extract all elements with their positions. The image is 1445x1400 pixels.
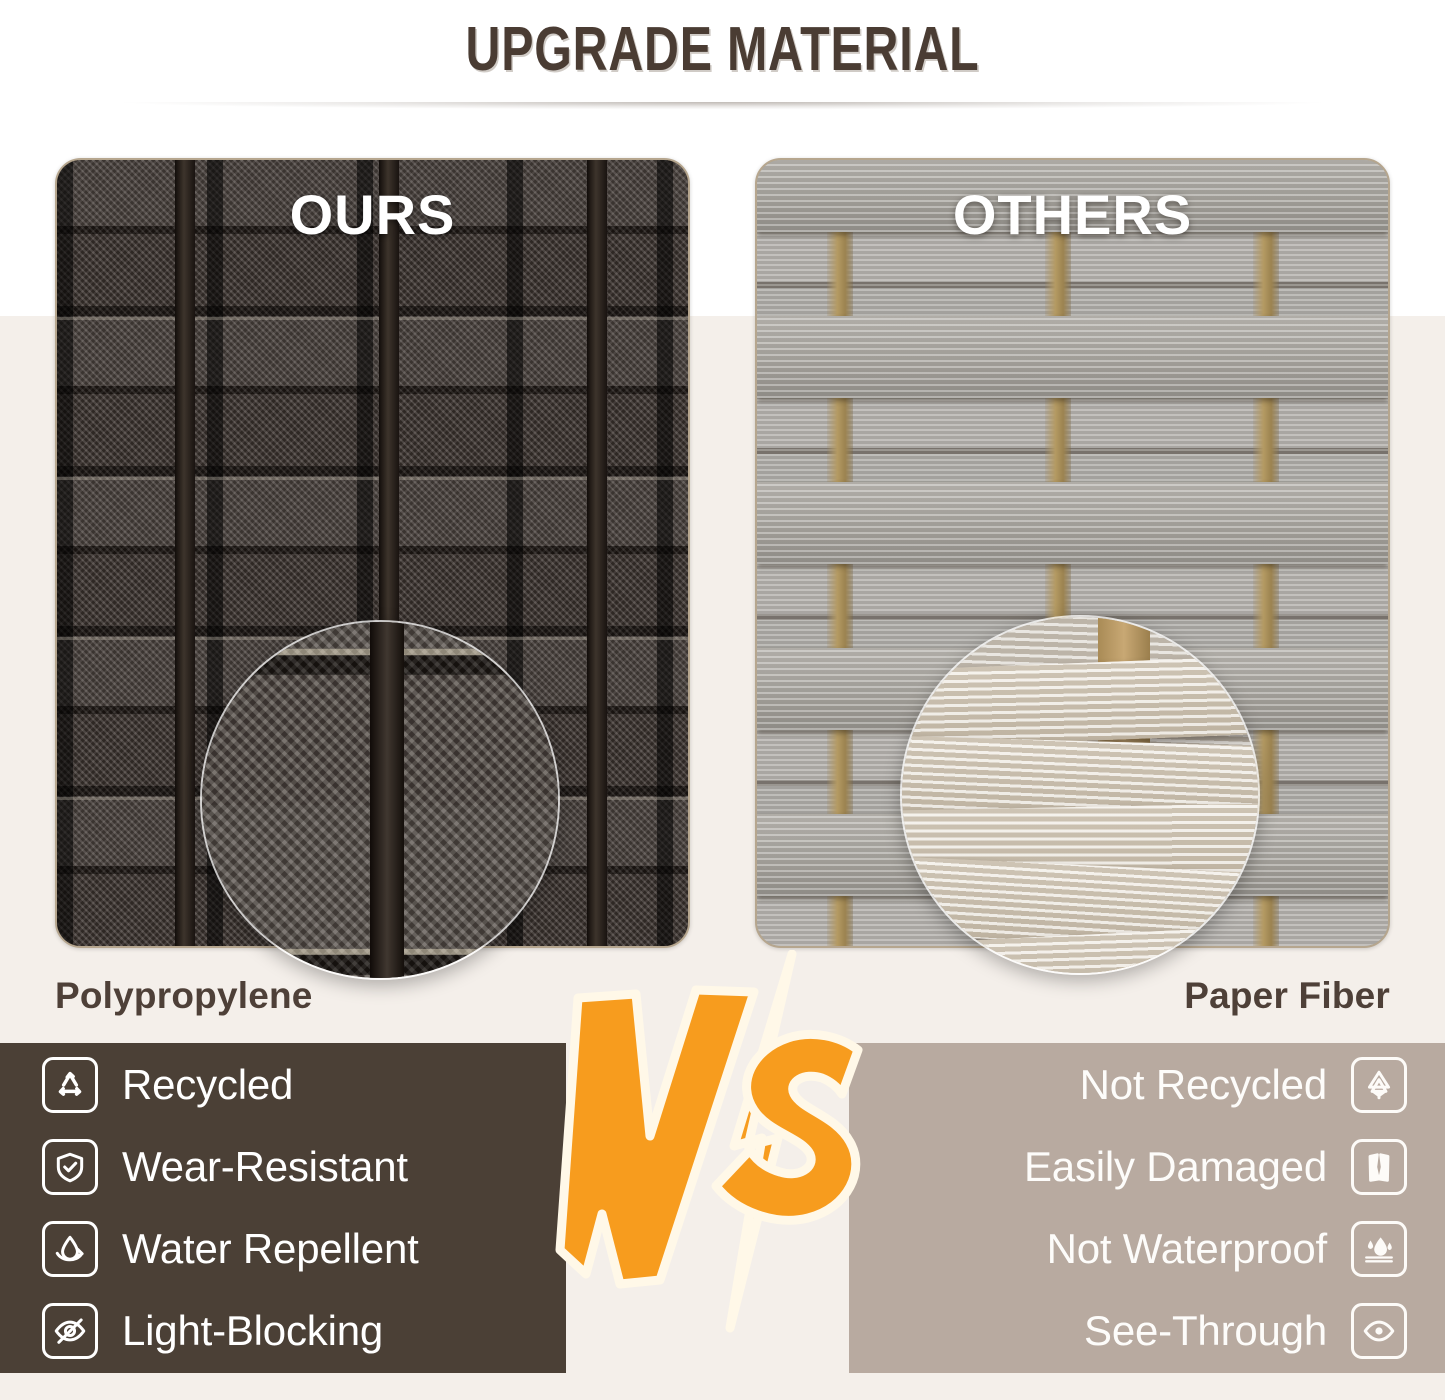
eye-open-icon bbox=[1351, 1303, 1407, 1359]
recycle-icon bbox=[42, 1057, 98, 1113]
ours-magnifier-circle bbox=[200, 620, 560, 980]
feature-row-not-recycled: Not Recycled bbox=[1080, 1044, 1407, 1126]
feature-row-water-repellent: Water Repellent bbox=[42, 1208, 566, 1290]
frayed-fiber-strand bbox=[900, 656, 1260, 749]
weave-vertical-rod bbox=[175, 160, 195, 946]
tree-icon bbox=[1351, 1057, 1407, 1113]
others-photo-label: OTHERS bbox=[755, 182, 1390, 247]
others-feature-bar: Not Recycled Easily Damaged bbox=[849, 1043, 1445, 1373]
title-divider bbox=[50, 102, 1395, 112]
feature-label: Water Repellent bbox=[122, 1225, 419, 1273]
torn-paper-icon bbox=[1351, 1139, 1407, 1195]
feature-label: See-Through bbox=[1084, 1307, 1327, 1355]
feature-row-light-blocking: Light-Blocking bbox=[42, 1290, 566, 1372]
ours-feature-bar: Recycled Wear-Resistant Water Repellent bbox=[0, 1043, 566, 1373]
page-title: UPGRADE MATERIAL bbox=[466, 19, 980, 81]
shield-check-icon bbox=[42, 1139, 98, 1195]
paper-horizontal-strap bbox=[757, 316, 1388, 398]
ours-photo-label: OURS bbox=[55, 182, 690, 247]
feature-label: Wear-Resistant bbox=[122, 1143, 408, 1191]
magnified-vertical-rod bbox=[370, 620, 404, 980]
page-title-container: UPGRADE MATERIAL bbox=[0, 0, 1445, 100]
feature-label: Light-Blocking bbox=[122, 1307, 383, 1355]
weave-vertical-rod bbox=[587, 160, 607, 946]
feature-label: Recycled bbox=[122, 1061, 293, 1109]
others-magnifier-circle bbox=[900, 615, 1260, 975]
paper-horizontal-strap bbox=[757, 482, 1388, 564]
feature-row-easily-damaged: Easily Damaged bbox=[1024, 1126, 1407, 1208]
ours-material-name: Polypropylene bbox=[55, 975, 313, 1017]
infographic-root: UPGRADE MATERIAL OURS OTHERS bbox=[0, 0, 1445, 1400]
feature-row-wear-resistant: Wear-Resistant bbox=[42, 1126, 566, 1208]
feature-label: Not Recycled bbox=[1080, 1061, 1327, 1109]
magnified-frayed-detail bbox=[902, 617, 1258, 973]
eye-slash-icon bbox=[42, 1303, 98, 1359]
feature-row-recycled: Recycled bbox=[42, 1044, 566, 1126]
feature-row-see-through: See-Through bbox=[1084, 1290, 1407, 1372]
others-material-name: Paper Fiber bbox=[1184, 975, 1390, 1017]
feature-label: Not Waterproof bbox=[1047, 1225, 1327, 1273]
water-splash-icon bbox=[1351, 1221, 1407, 1277]
feature-label: Easily Damaged bbox=[1024, 1143, 1327, 1191]
feature-row-not-waterproof: Not Waterproof bbox=[1047, 1208, 1407, 1290]
water-drop-repel-icon bbox=[42, 1221, 98, 1277]
